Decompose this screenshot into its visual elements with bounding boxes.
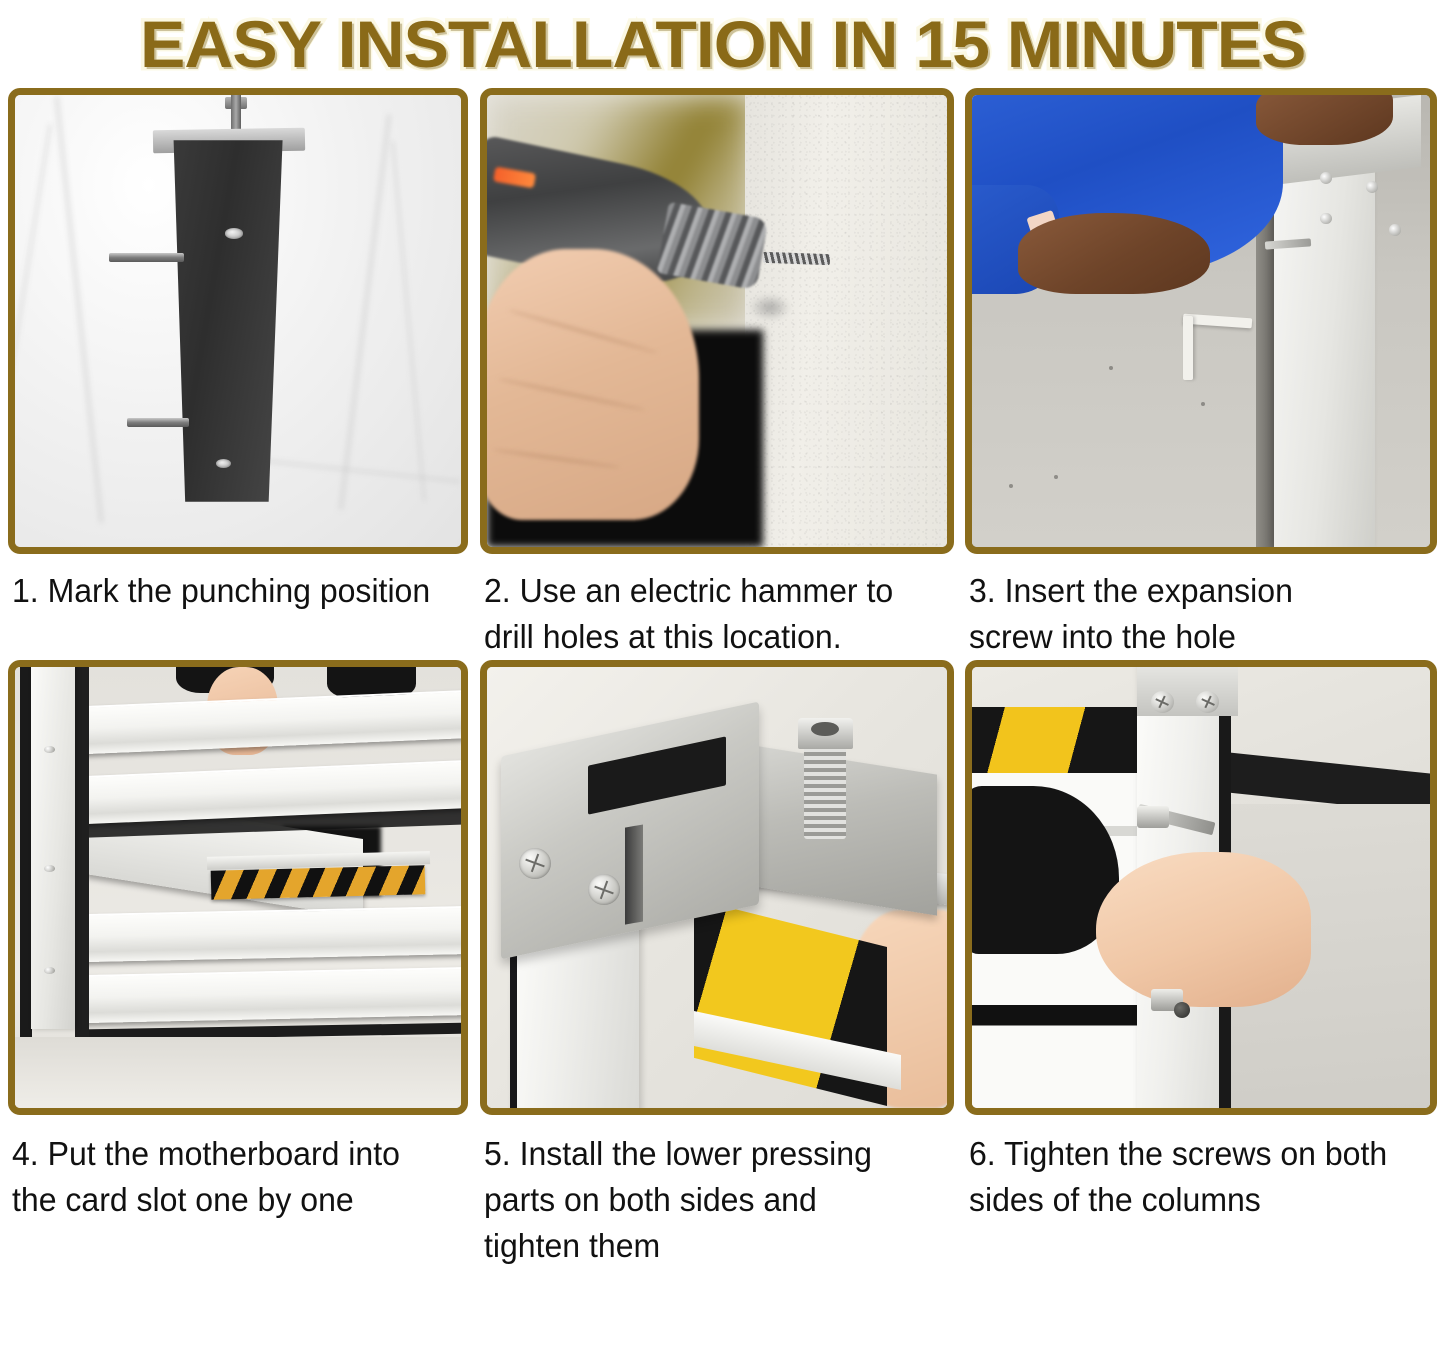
steps-grid: 1. Mark the punching position 2. Use an …: [0, 88, 1445, 1269]
step-caption-3: 3. Insert the expansion screw into the h…: [969, 568, 1423, 660]
step-photo-3: [972, 95, 1430, 547]
step-caption-4: 4. Put the motherboard into the card slo…: [12, 1131, 454, 1223]
step-card-3: 3. Insert the expansion screw into the h…: [965, 88, 1445, 660]
step-photo-4: [15, 667, 461, 1108]
step-caption-5: 5. Install the lower pressing parts on b…: [484, 1131, 940, 1269]
step-photo-2: [487, 95, 947, 547]
step-caption-2: 2. Use an electric hammer to drill holes…: [484, 568, 940, 660]
page-title: EASY INSTALLATION IN 15 MINUTES: [140, 9, 1305, 79]
step-caption-1: 1. Mark the punching position: [12, 568, 454, 614]
step-card-6: 6. Tighten the screws on both sides of t…: [965, 660, 1445, 1269]
step-photo-1: [15, 95, 461, 547]
step-card-4: 4. Put the motherboard into the card slo…: [0, 660, 480, 1269]
step-image-frame-6: [965, 660, 1437, 1115]
step-image-frame-5: [480, 660, 954, 1115]
header-banner: EASY INSTALLATION IN 15 MINUTES: [0, 0, 1445, 88]
step-caption-6: 6. Tighten the screws on both sides of t…: [969, 1131, 1423, 1223]
step-image-frame-4: [8, 660, 468, 1115]
step-image-frame-1: [8, 88, 468, 554]
step-card-5: 5. Install the lower pressing parts on b…: [480, 660, 965, 1269]
step-photo-6: [972, 667, 1430, 1108]
step-photo-5: [487, 667, 947, 1108]
step-card-1: 1. Mark the punching position: [0, 88, 480, 660]
step-card-2: 2. Use an electric hammer to drill holes…: [480, 88, 965, 660]
step-image-frame-2: [480, 88, 954, 554]
step-image-frame-3: [965, 88, 1437, 554]
